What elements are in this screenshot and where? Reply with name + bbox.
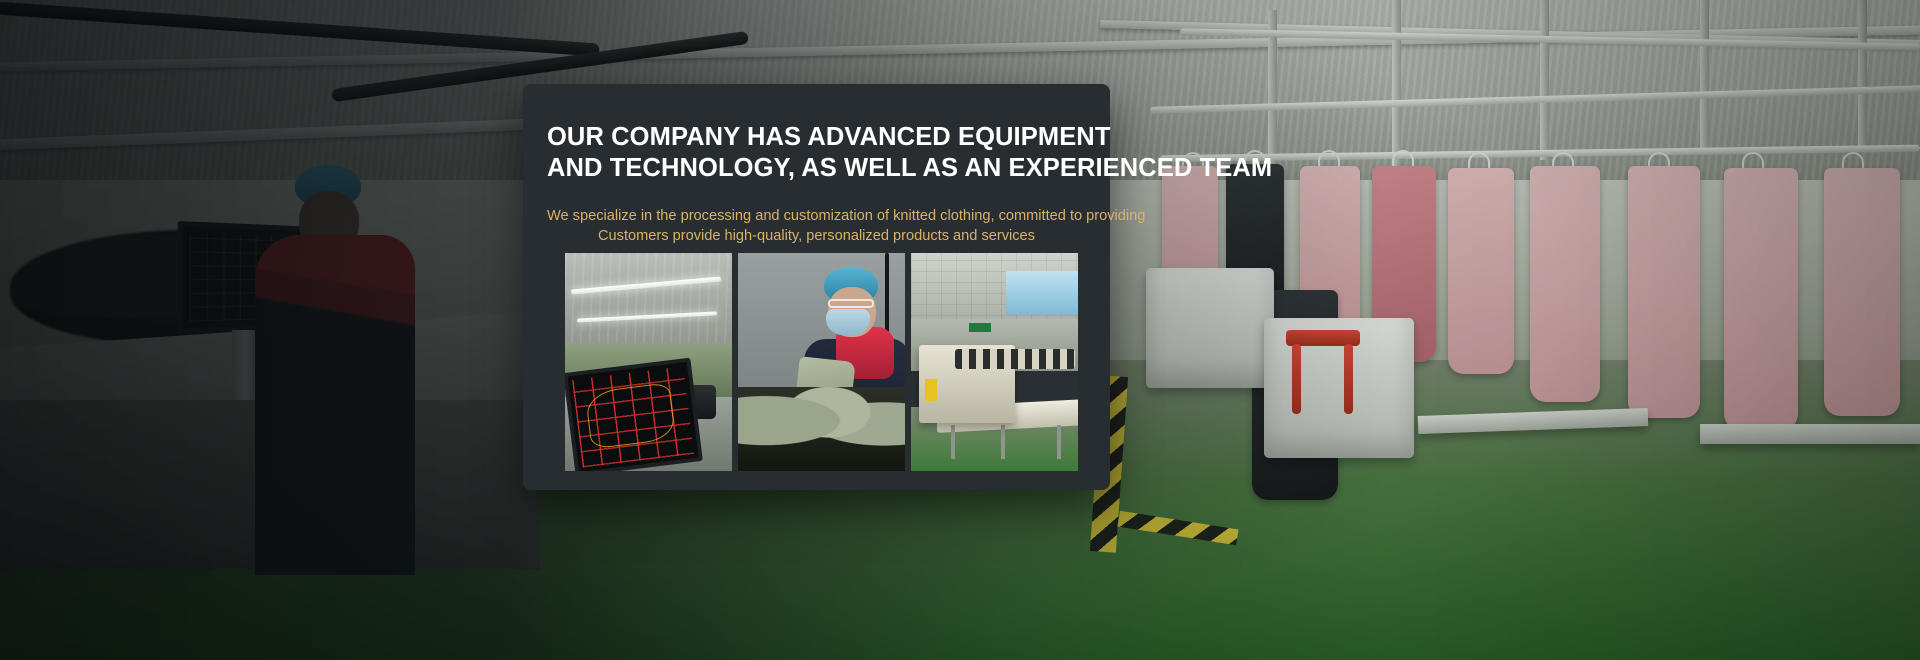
hero-banner: OUR COMPANY HAS ADVANCED EQUIPMENT AND T…: [0, 0, 1920, 660]
headline-line-1: OUR COMPANY HAS ADVANCED EQUIPMENT: [547, 122, 1086, 153]
exit-sign: [969, 323, 991, 332]
thumbnail-worker-inspecting-garments[interactable]: [738, 253, 905, 471]
window: [1006, 271, 1078, 315]
ceiling: [565, 253, 732, 349]
garment-pile: [738, 387, 905, 471]
subtitle-line-1: We specialize in the processing and cust…: [547, 207, 1086, 226]
face-mask: [826, 309, 870, 335]
glasses-icon: [828, 299, 874, 308]
cad-monitor: [565, 358, 703, 471]
subtitle-line-2: Customers provide high-quality, personal…: [547, 227, 1086, 246]
thumbnail-fabric-spreading-machine[interactable]: [911, 253, 1078, 471]
cad-pattern: [572, 367, 694, 468]
promo-card: OUR COMPANY HAS ADVANCED EQUIPMENT AND T…: [523, 84, 1110, 490]
thumbnail-gallery: [565, 253, 1078, 471]
table-legs: [945, 425, 1077, 459]
warning-label: [925, 379, 937, 401]
thumbnail-cad-cutting-display[interactable]: [565, 253, 732, 471]
headline-line-2: AND TECHNOLOGY, AS WELL AS AN EXPERIENCE…: [547, 153, 1086, 184]
fabric-roller: [955, 349, 1075, 369]
